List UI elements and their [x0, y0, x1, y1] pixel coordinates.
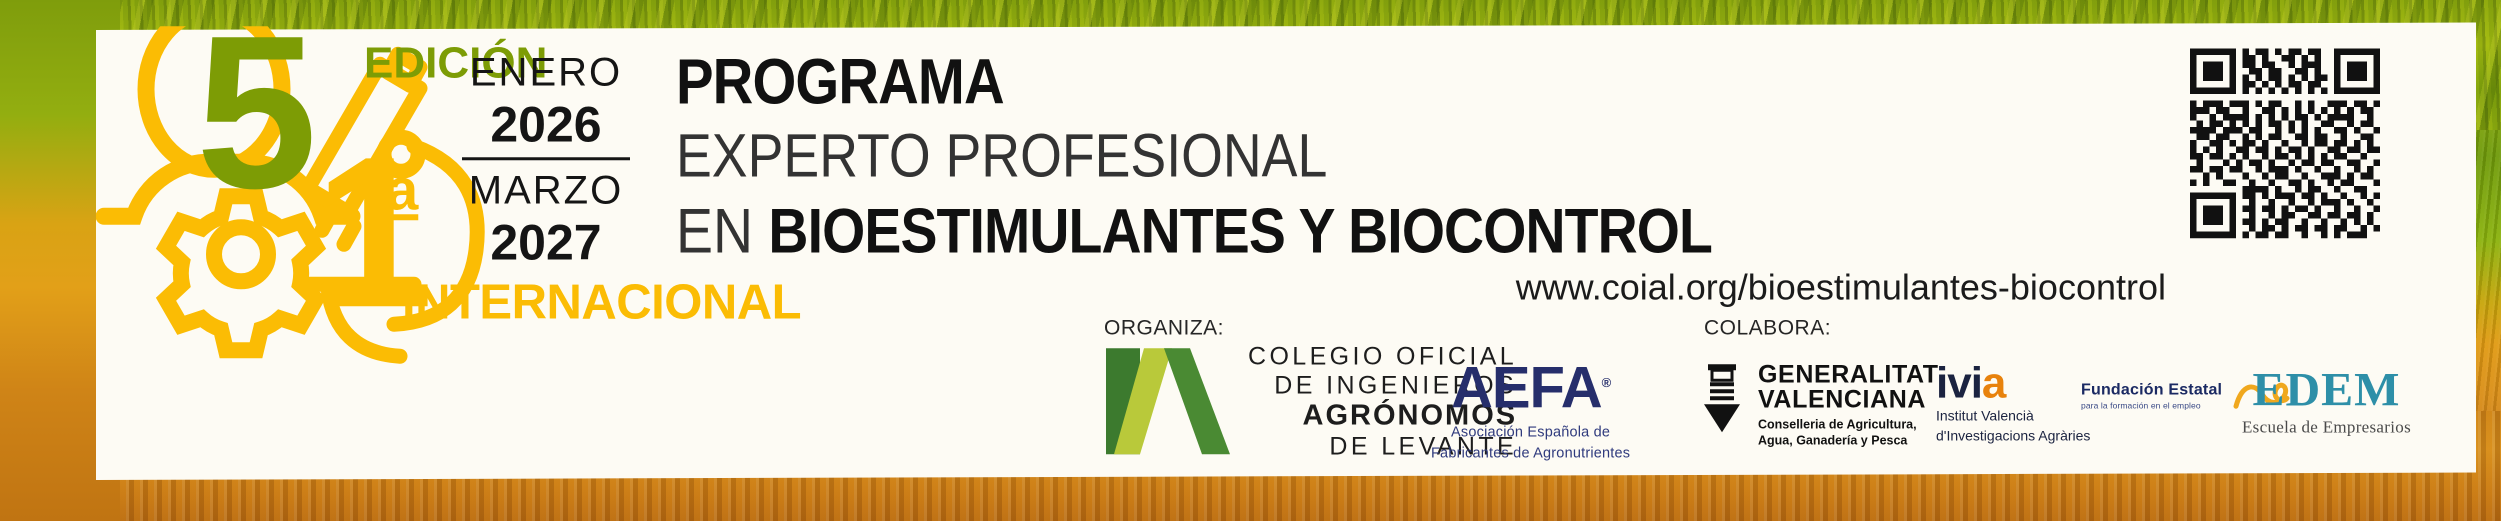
ivia-word-part2: a	[1982, 358, 2005, 407]
ivia-wordmark: ivia	[1936, 362, 2090, 404]
ivia-sub2: d'Investigacions Agràries	[1936, 428, 2090, 446]
international-ordinal: a	[386, 156, 418, 223]
logo-aefa[interactable]: AEFA® Asociación Española de Fabricantes…	[1431, 354, 1630, 463]
aefa-wordmark: AEFA®	[1451, 354, 1610, 421]
aefa-registered: ®	[1602, 375, 1611, 390]
ivia-sub1: Institut Valencià	[1936, 407, 2090, 425]
banner-root: 5 EDICIÓN 1 a INTERNACIONAL ENERO 2026 M…	[0, 0, 2501, 521]
end-month: MARZO	[456, 166, 636, 215]
fundacion-line2: para la formación en el empleo	[2081, 400, 2222, 410]
content-card: 5 EDICIÓN 1 a INTERNACIONAL ENERO 2026 M…	[96, 23, 2476, 480]
edition-number: 5	[196, 24, 311, 203]
fundacion-text: Fundación Estatal para la formación en e…	[2081, 381, 2222, 410]
generalitat-text: GENERALITAT VALENCIANA Conselleria de Ag…	[1758, 362, 1939, 449]
logo-edem[interactable]: EDEM Escuela de Empresarios	[2242, 366, 2411, 437]
logo-ivia[interactable]: ivia Institut Valencià d'Investigacions …	[1936, 362, 2090, 445]
logo-generalitat[interactable]: GENERALITAT VALENCIANA Conselleria de Ag…	[1696, 362, 1939, 449]
aefa-sub-line1: Asociación Española de	[1431, 423, 1630, 442]
generalitat-shield-icon	[1696, 362, 1748, 434]
ivia-word-part1: ivi	[1936, 358, 1982, 407]
aefa-sub-line2: Fabricantes de Agronutrientes	[1431, 444, 1630, 463]
website-url[interactable]: www.coial.org/bioestimulantes-biocontrol	[1156, 266, 2166, 308]
fundacion-line1: Fundación Estatal	[2081, 381, 2222, 399]
title-block: PROGRAMA EXPERTO PROFESIONAL EN BIOESTIM…	[676, 46, 1926, 270]
generalitat-sub2: Agua, Ganadería y Pesca	[1758, 433, 1939, 449]
generalitat-line2: VALENCIANA	[1758, 387, 1939, 412]
title-main-bio: BIOESTIMULANTES Y BIOCONTROL	[768, 197, 1712, 267]
qr-code[interactable]	[2190, 48, 2380, 238]
coial-mark-icon	[1104, 347, 1232, 457]
title-line-bio: EN BIOESTIMULANTES Y BIOCONTROL	[676, 194, 1776, 271]
generalitat-line1: GENERALITAT	[1758, 362, 1939, 387]
title-line-programa: PROGRAMA	[676, 46, 1776, 118]
dates-divider	[462, 157, 630, 160]
title-prefix-en: EN	[676, 197, 768, 267]
aefa-word-text: AEFA	[1451, 355, 1602, 420]
start-year: 2026	[456, 97, 636, 152]
title-line-experto: EXPERTO PROFESIONAL	[676, 118, 1776, 194]
colabora-label: COLABORA:	[1704, 316, 1831, 340]
generalitat-sub1: Conselleria de Agricultura,	[1758, 416, 1939, 432]
end-year: 2027	[456, 215, 636, 270]
organiza-label: ORGANIZA:	[1104, 316, 1224, 340]
edem-wordmark: EDEM	[2242, 366, 2411, 414]
sponsors-strip: ORGANIZA: COLABORA: COLEGIO OFICIAL DE I…	[96, 316, 2476, 476]
dates-block: ENERO 2026 MARZO 2027	[456, 48, 636, 270]
edem-sub: Escuela de Empresarios	[2242, 417, 2411, 437]
start-month: ENERO	[456, 48, 636, 97]
